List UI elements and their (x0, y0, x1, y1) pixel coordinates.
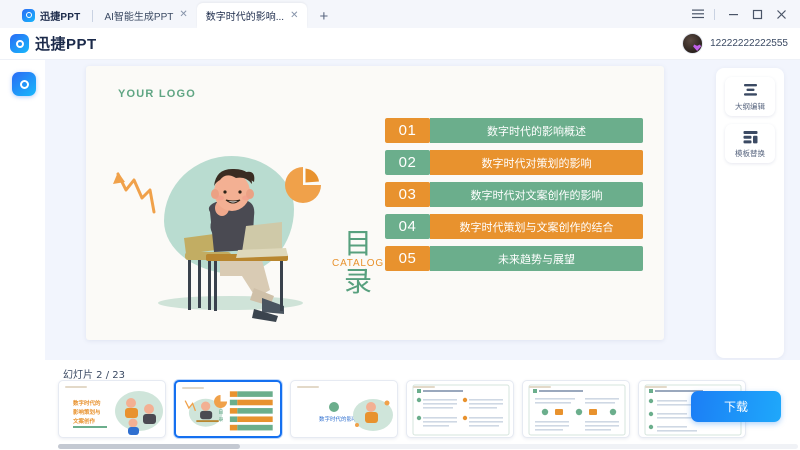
tab-digital-era-impact[interactable]: 数字时代的影响... ✕ (197, 3, 308, 28)
thumb-logo-mark (182, 387, 204, 389)
thumb-content-art (407, 381, 514, 438)
catalog-row-text: 数字时代对策划的影响 (430, 150, 643, 175)
catalog-row-01[interactable]: 01 数字时代的影响概述 (385, 118, 643, 143)
slide-canvas[interactable]: YOUR LOGO (86, 66, 664, 340)
svg-text:数字时代的: 数字时代的 (73, 399, 101, 407)
catalog-cn-top: 目 (322, 230, 394, 259)
thumbnail-list: 数字时代的 影响策划与 文案创作 (58, 380, 746, 438)
person-at-desk-illustration (158, 164, 308, 324)
catalog-row-number: 01 (385, 118, 430, 143)
catalog-row-05[interactable]: 05 未来趋势与展望 (385, 246, 643, 271)
xunjie-logo-icon[interactable] (12, 72, 36, 96)
catalog-row-text: 数字时代对文案创作的影响 (430, 182, 643, 207)
right-tool-panel: 大纲编辑 模板替换 (716, 68, 784, 358)
app-logo-tab-label: 迅捷PPT (40, 8, 80, 23)
thumbnail-slide-3[interactable]: 数字时代的影响概述 (290, 380, 398, 438)
tab-label: 数字时代的影响... (206, 8, 284, 23)
thumbnail-slide-1[interactable]: 数字时代的 影响策划与 文案创作 (58, 380, 166, 438)
app-header: 迅捷PPT 12222222222555 (0, 28, 800, 60)
user-id-label: 12222222222555 (710, 38, 788, 49)
catalog-row-03[interactable]: 03 数字时代对文案创作的影响 (385, 182, 643, 207)
thumb-logo-mark (529, 386, 551, 388)
zigzag-arrow-icon (112, 168, 160, 222)
thumb-logo-mark (297, 386, 319, 388)
slide-your-logo: YOUR LOGO (118, 88, 196, 100)
close-icon[interactable]: ✕ (290, 11, 298, 21)
thumb-content-art (523, 381, 630, 438)
template-replace-label: 模板替换 (735, 148, 765, 159)
maximize-icon (752, 9, 763, 20)
maximize-button[interactable] (746, 5, 768, 23)
tab-label: AI智能生成PPT (104, 8, 173, 23)
outline-edit-icon (742, 83, 759, 98)
tab-divider (92, 10, 93, 22)
thumbnail-scrollbar-thumb[interactable] (58, 444, 240, 449)
slide-counter: 幻灯片 2 / 23 (63, 366, 125, 381)
brand-logo[interactable]: 迅捷PPT (0, 33, 97, 54)
user-account[interactable]: 12222222222555 (682, 33, 800, 54)
xunjie-logo-icon (10, 34, 29, 53)
thumbnail-scrollbar-track[interactable] (58, 444, 798, 449)
thumb-logo-mark (413, 386, 435, 388)
outline-edit-label: 大纲编辑 (735, 101, 765, 112)
thumb-catalog-art: 目 录 (176, 382, 280, 436)
svg-text:文案创作: 文案创作 (73, 417, 96, 425)
catalog-row-04[interactable]: 04 数字时代策划与文案创作的结合 (385, 214, 643, 239)
catalog-row-number: 05 (385, 246, 430, 271)
thumb-logo-mark (65, 386, 87, 388)
hamburger-icon[interactable] (687, 5, 709, 23)
slide-illustration: 目 CATALOG 录 (106, 146, 366, 326)
outline-edit-button[interactable]: 大纲编辑 (725, 77, 775, 116)
xunjie-logo-icon (22, 9, 35, 22)
catalog-row-02[interactable]: 02 数字时代对策划的影响 (385, 150, 643, 175)
app-logo-tab[interactable]: 迅捷PPT (0, 3, 90, 27)
catalog-row-text: 数字时代的影响概述 (430, 118, 643, 143)
catalog-cn-bottom: 录 (322, 268, 394, 297)
hamburger-glyph (692, 9, 704, 19)
template-replace-button[interactable]: 模板替换 (725, 124, 775, 163)
download-button[interactable]: 下载 (691, 391, 781, 422)
slide-thumbnail-strip: 幻灯片 2 / 23 数字时代的 影响策划与 文案创作 (45, 360, 800, 450)
app-window: 迅捷PPT AI智能生成PPT ✕ 数字时代的影响... ✕ + (0, 0, 800, 450)
browser-tab-bar: 迅捷PPT AI智能生成PPT ✕ 数字时代的影响... ✕ + (0, 0, 800, 28)
thumbnail-slide-4[interactable] (406, 380, 514, 438)
tab-ai-generate-ppt[interactable]: AI智能生成PPT ✕ (95, 3, 196, 27)
svg-text:目: 目 (219, 410, 224, 416)
catalog-row-number: 04 (385, 214, 430, 239)
catalog-heading: 目 CATALOG 录 (322, 230, 394, 296)
brand-name: 迅捷PPT (35, 33, 97, 54)
close-icon[interactable]: ✕ (179, 10, 187, 20)
minimize-icon (728, 9, 739, 20)
svg-text:影响策划与: 影响策划与 (73, 408, 101, 416)
catalog-row-text: 数字时代策划与文案创作的结合 (430, 214, 643, 239)
template-replace-icon (742, 130, 759, 145)
new-tab-button[interactable]: + (307, 9, 338, 28)
close-icon (776, 9, 787, 20)
avatar[interactable] (682, 33, 703, 54)
thumb-cover-art: 数字时代的 影响策划与 文案创作 (59, 381, 166, 438)
window-control-divider (714, 9, 715, 20)
thumbnail-slide-2[interactable]: 目 录 (174, 380, 282, 438)
thumb-logo-mark (645, 386, 667, 388)
catalog-row-number: 03 (385, 182, 430, 207)
catalog-row-number: 02 (385, 150, 430, 175)
window-controls (687, 5, 800, 28)
close-window-button[interactable] (770, 5, 792, 23)
thumb-section-art: 数字时代的影响概述 (291, 381, 398, 438)
thumbnail-slide-5[interactable] (522, 380, 630, 438)
catalog-item-list: 01 数字时代的影响概述 02 数字时代对策划的影响 03 数字时代对文案创作的… (385, 118, 643, 278)
left-rail (0, 60, 45, 360)
catalog-row-text: 未来趋势与展望 (430, 246, 643, 271)
minimize-button[interactable] (722, 5, 744, 23)
